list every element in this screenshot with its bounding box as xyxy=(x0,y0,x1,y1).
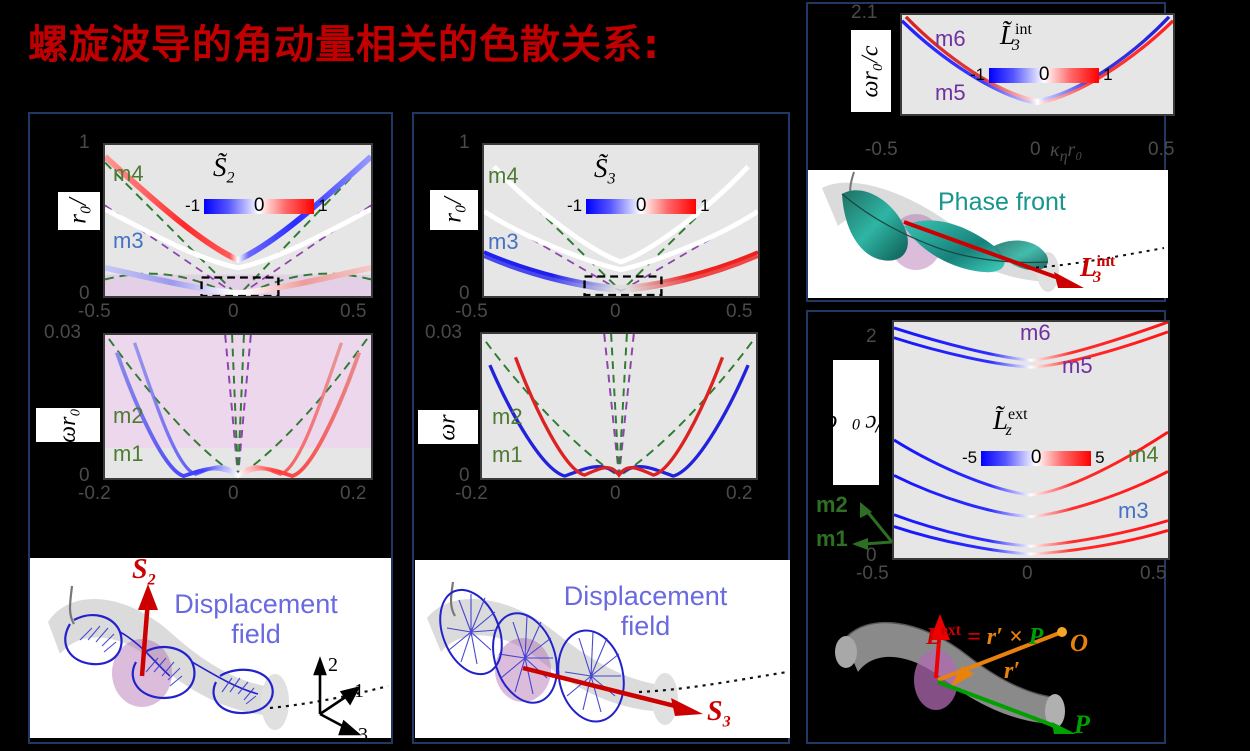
l3int-label-m6: m6 xyxy=(935,28,966,50)
picture-displacement-s3[interactable]: Displacement field S3 xyxy=(415,560,790,738)
label-vector-r: r′ xyxy=(1004,658,1020,685)
lzext-colorbar-mid: 0 xyxy=(1031,447,1042,469)
s2-colorbar-max: 1 xyxy=(318,196,327,216)
l3int-colorbar: -1 0 1 xyxy=(970,65,1113,85)
s3-bottom-xtick-right: 0.2 xyxy=(726,483,752,505)
s3-bottom-label-m2: m2 xyxy=(492,406,523,428)
formula-lext: Lext = r′ × P xyxy=(926,622,1043,651)
s2-bottom-xtick-mid: 0 xyxy=(228,483,239,505)
phase-front-caption: Phase front xyxy=(938,188,1066,217)
displacement-caption-s3: Displacement field xyxy=(553,582,738,641)
lzext-ylabel: ωr0/cs xyxy=(833,360,879,485)
s3-colorbar: -1 0 1 xyxy=(567,196,710,216)
lzext-colorbar-min: -5 xyxy=(962,448,977,468)
displacement-caption-s2: Displacement field xyxy=(166,590,346,649)
lzext-colorbar-max: 5 xyxy=(1095,448,1104,468)
s3-bottom-label-m1: m1 xyxy=(492,444,523,466)
s2-top-xtick-mid: 0 xyxy=(228,301,239,323)
triad-label-2: 2 xyxy=(328,654,338,677)
s3-bottom-ytick-max: 0.03 xyxy=(425,322,462,344)
s3-top-ytick-max: 1 xyxy=(459,132,470,154)
s3-top-xtick-left: -0.5 xyxy=(455,301,488,323)
lzext-colorbar-title: L̃extz xyxy=(993,405,1012,440)
page-title: 螺旋波导的角动量相关的色散关系: xyxy=(28,12,660,70)
vector-label-l3int: Lint3 xyxy=(1080,252,1101,287)
l3int-colorbar-max: 1 xyxy=(1103,65,1112,85)
l3int-ytick-max: 2.1 xyxy=(851,2,877,24)
slide-root: 螺旋波导的角动量相关的色散关系: xyxy=(0,0,1250,751)
lzext-xtick-left: -0.5 xyxy=(856,563,889,585)
s2-colorbar-title: S̃2 xyxy=(213,152,235,187)
plot-s3-top[interactable] xyxy=(482,143,760,298)
s2-top-label-m4: m4 xyxy=(113,163,144,185)
lzext-label-m5: m5 xyxy=(1062,355,1093,377)
s2-top-ytick-max: 1 xyxy=(79,132,90,154)
s2-top-ylabel: r₀/ xyxy=(58,192,100,230)
l3int-xtick-right: 0.5 xyxy=(1148,139,1174,161)
s2-bottom-ylabel: ωr₀ xyxy=(36,408,100,442)
lzext-ytick-max: 2 xyxy=(866,326,877,348)
lzext-xtick-right: 0.5 xyxy=(1140,563,1166,585)
l3int-colorbar-title: L̃int3 xyxy=(1000,20,1020,55)
l3int-ylabel: ωr₀/c xyxy=(851,30,891,112)
picture-lzext-diagram[interactable]: Lext = r′ × P O r′ P xyxy=(808,600,1168,748)
lzext-xtick-mid: 0 xyxy=(1022,563,1033,585)
lzext-label-m1: m1 xyxy=(816,528,848,550)
s3-bottom-xtick-left: -0.2 xyxy=(455,483,488,505)
s2-bottom-label-m2: m2 xyxy=(113,405,144,427)
s2-top-label-m3: m3 xyxy=(113,230,144,252)
s2-colorbar-min: -1 xyxy=(185,196,200,216)
picture-displacement-s2[interactable]: Displacement field S2 2 1 3 xyxy=(30,558,391,738)
triad-label-3: 3 xyxy=(358,724,368,738)
label-origin-O: O xyxy=(1070,630,1088,658)
s2-top-xtick-left: -0.5 xyxy=(78,301,111,323)
s2-top-xtick-right: 0.5 xyxy=(340,301,366,323)
l3int-colorbar-min: -1 xyxy=(970,65,985,85)
s3-colorbar-min: -1 xyxy=(567,196,582,216)
s2-colorbar-mid: 0 xyxy=(254,195,265,217)
lzext-label-m2: m2 xyxy=(816,494,848,516)
s3-colorbar-title: S̃3 xyxy=(594,153,616,188)
l3int-xtick-mid: 0 xyxy=(1030,139,1041,161)
s3-top-ylabel: r₀/ xyxy=(430,190,478,230)
s2-bottom-label-m1: m1 xyxy=(113,443,144,465)
l3int-xlabel: κηr₀ xyxy=(1050,139,1082,166)
s3-colorbar-mid: 0 xyxy=(636,195,647,217)
vector-label-s3: S3 xyxy=(707,696,731,732)
l3int-colorbar-mid: 0 xyxy=(1039,64,1050,86)
lzext-label-m6: m6 xyxy=(1020,322,1051,344)
triad-label-1: 1 xyxy=(354,680,364,703)
lzext-label-m4: m4 xyxy=(1128,444,1159,466)
s2-bottom-ytick-max: 0.03 xyxy=(44,322,81,344)
lzext-label-m3: m3 xyxy=(1118,500,1149,522)
s2-colorbar: -1 0 1 xyxy=(185,196,328,216)
s3-colorbar-max: 1 xyxy=(700,196,709,216)
s3-top-label-m4: m4 xyxy=(488,165,519,187)
s3-top-xtick-mid: 0 xyxy=(610,301,621,323)
s3-top-label-m3: m3 xyxy=(488,231,519,253)
lzext-colorbar: -5 0 5 xyxy=(962,448,1105,468)
picture-phase-front[interactable]: Phase front Lint3 xyxy=(808,170,1168,298)
s3-bottom-xtick-mid: 0 xyxy=(610,483,621,505)
plot-lzext[interactable] xyxy=(892,320,1170,560)
s2-bottom-xtick-left: -0.2 xyxy=(78,483,111,505)
s3-top-xtick-right: 0.5 xyxy=(726,301,752,323)
vector-label-s2: S2 xyxy=(132,558,156,590)
s2-bottom-xtick-right: 0.2 xyxy=(340,483,366,505)
l3int-xtick-left: -0.5 xyxy=(865,139,898,161)
l3int-label-m5: m5 xyxy=(935,82,966,104)
label-vector-P: P xyxy=(1074,710,1090,740)
s3-bottom-ylabel: ωr xyxy=(418,410,478,444)
